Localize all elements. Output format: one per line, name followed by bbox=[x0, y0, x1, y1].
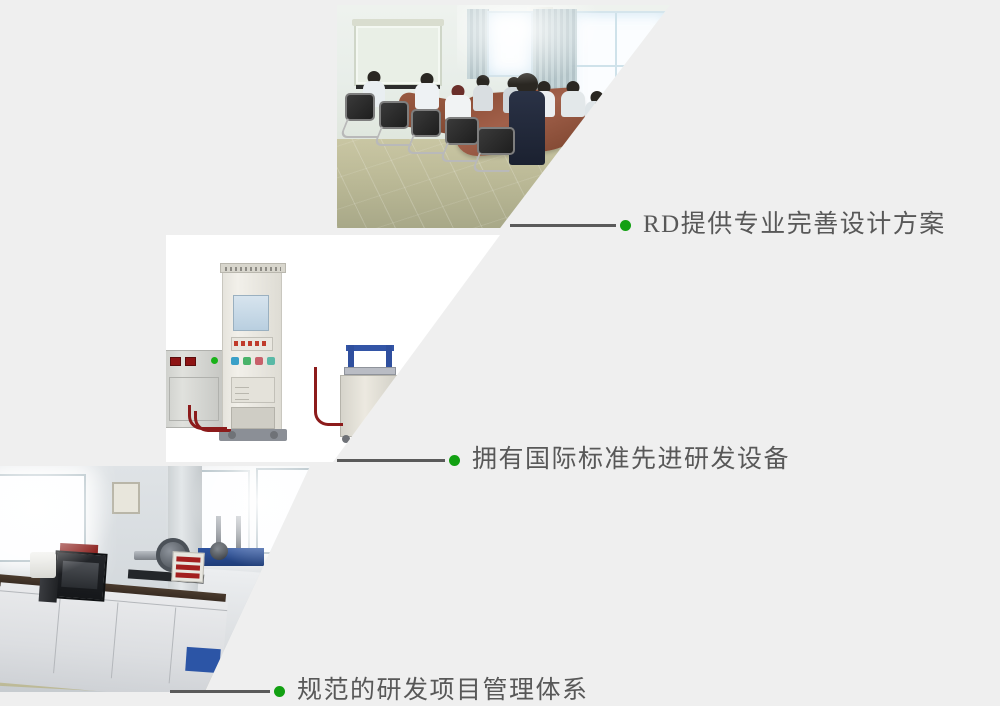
caption-text: RD提供专业完善设计方案 bbox=[643, 210, 946, 240]
office-chair bbox=[477, 127, 515, 185]
rack-vents bbox=[225, 267, 281, 271]
test-chamber bbox=[52, 550, 107, 602]
button-icon bbox=[255, 357, 263, 365]
stand-wheel bbox=[210, 542, 228, 560]
chair-back bbox=[411, 109, 441, 137]
office-chair bbox=[379, 101, 409, 143]
keypad-keys bbox=[235, 382, 249, 400]
status-led-icon bbox=[211, 357, 218, 364]
meter-display bbox=[176, 564, 200, 570]
feature-showcase-banner: RD提供专业完善设计方案 bbox=[0, 0, 1000, 700]
caster-wheel bbox=[342, 435, 350, 443]
person bbox=[585, 91, 609, 133]
horizontal-rule-icon bbox=[170, 690, 270, 693]
measurement-stand bbox=[204, 516, 258, 564]
rack-buttons bbox=[231, 357, 275, 367]
power-cable bbox=[314, 367, 343, 426]
torso bbox=[585, 101, 609, 127]
digital-meters bbox=[170, 357, 208, 366]
torso bbox=[561, 91, 585, 117]
cabinet-divider bbox=[169, 608, 177, 684]
button-icon bbox=[267, 357, 275, 365]
button-icon bbox=[231, 357, 239, 365]
test-bench-cabinet bbox=[340, 375, 402, 437]
green-dot-icon bbox=[274, 686, 285, 697]
photo-content bbox=[0, 466, 310, 692]
torso bbox=[473, 85, 493, 111]
green-dot-icon bbox=[620, 220, 631, 231]
horizontal-rule-icon bbox=[337, 459, 445, 462]
person bbox=[473, 75, 493, 111]
feature-caption-rd-design: RD提供专业完善设计方案 bbox=[510, 210, 946, 240]
office-chair bbox=[445, 117, 479, 167]
meter-display bbox=[176, 556, 200, 562]
rack-top-panel bbox=[220, 263, 286, 273]
photo-content bbox=[337, 5, 670, 228]
button-icon bbox=[243, 357, 251, 365]
cabinet-divider bbox=[111, 603, 119, 679]
caster-wheel bbox=[270, 431, 278, 439]
chair-back bbox=[477, 127, 515, 155]
rack-keypad bbox=[231, 377, 275, 403]
chair-back bbox=[345, 93, 375, 121]
office-chair bbox=[411, 109, 441, 151]
caption-text: 拥有国际标准先进研发设备 bbox=[472, 445, 790, 475]
test-fixture bbox=[344, 345, 396, 379]
curtain bbox=[467, 9, 489, 79]
feature-caption-equipment: 拥有国际标准先进研发设备 bbox=[337, 445, 790, 475]
rack-monitor bbox=[233, 295, 269, 331]
control-meter bbox=[171, 551, 205, 583]
window bbox=[487, 11, 533, 77]
meter-display bbox=[175, 572, 199, 578]
chamber-window bbox=[61, 561, 99, 589]
lab-bench-workroom-photo bbox=[0, 466, 310, 692]
chair-back bbox=[445, 117, 479, 145]
horizontal-rule-icon bbox=[510, 224, 616, 227]
green-dot-icon bbox=[449, 455, 460, 466]
small-appliance bbox=[30, 552, 56, 578]
readout-digits bbox=[234, 341, 268, 346]
chair-legs bbox=[471, 153, 517, 172]
caption-text: 规范的研发项目管理体系 bbox=[297, 676, 589, 706]
cabinet-divider bbox=[53, 597, 61, 673]
fixture-post bbox=[348, 345, 354, 369]
meter-display bbox=[170, 357, 181, 366]
office-chair bbox=[345, 93, 375, 135]
chair-back bbox=[379, 101, 409, 129]
feature-caption-management: 规范的研发项目管理体系 bbox=[170, 676, 589, 706]
photo-content bbox=[166, 235, 500, 462]
stand-base bbox=[198, 548, 264, 566]
rack-drawer bbox=[231, 407, 275, 429]
fixture-plate bbox=[344, 367, 396, 375]
caster-wheel bbox=[392, 435, 400, 443]
stand-post bbox=[236, 516, 241, 550]
conference-room-meeting-photo bbox=[337, 5, 670, 228]
person bbox=[561, 81, 585, 121]
caster-wheel bbox=[228, 431, 236, 439]
instrument-rack bbox=[222, 270, 282, 430]
wall-notice-board bbox=[112, 482, 140, 514]
rack-readout-panel bbox=[231, 337, 273, 351]
storage-bin bbox=[185, 647, 221, 673]
meter-display bbox=[185, 357, 196, 366]
torso bbox=[415, 83, 439, 109]
lab-test-equipment-photo bbox=[166, 235, 500, 462]
window bbox=[256, 468, 310, 554]
fixture-post bbox=[386, 345, 392, 369]
power-cable bbox=[194, 411, 231, 432]
